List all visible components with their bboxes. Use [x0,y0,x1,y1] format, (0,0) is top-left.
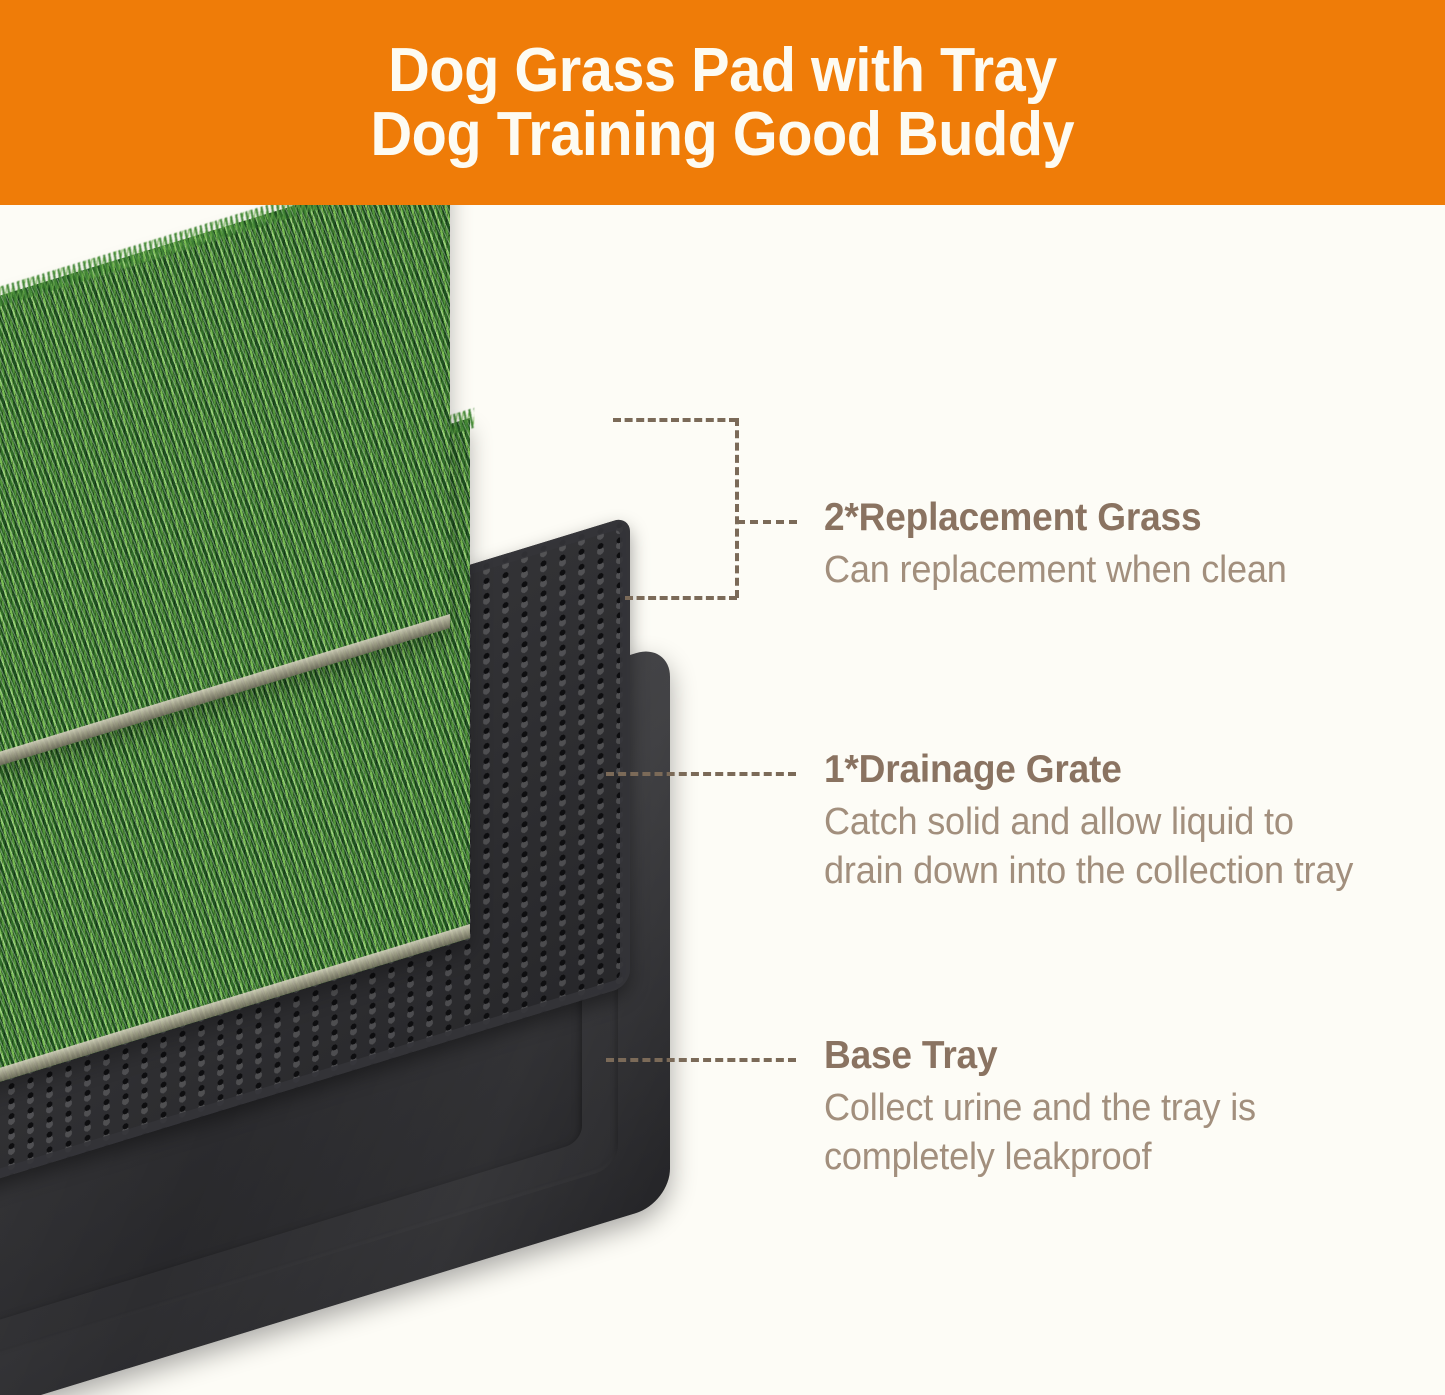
leader-bracket-right [735,418,739,598]
callout-base-tray-body: Collect urine and the tray is completely… [824,1084,1356,1183]
callout-drainage-grate-body: Catch solid and allow liquid to drain do… [824,798,1380,897]
callout-replacement-grass-body: Can replacement when clean [824,546,1394,595]
callout-replacement-grass-title: 2*Replacement Grass [824,496,1394,540]
leader-bracket-top [613,418,737,422]
banner-title-line-2: Dog Training Good Buddy [371,103,1075,166]
callout-drainage-grate-title: 1*Drainage Grate [824,748,1394,792]
leader-line-base-tray [606,1058,796,1062]
leader-line-drainage-grate [606,772,796,776]
callout-drainage-grate: 1*Drainage Grate Catch solid and allow l… [824,748,1424,896]
product-exploded-view [0,205,700,1395]
callout-base-tray-title: Base Tray [824,1034,1394,1078]
banner-title-line-1: Dog Grass Pad with Tray [388,39,1057,102]
callout-replacement-grass: 2*Replacement Grass Can replacement when… [824,496,1424,595]
header-banner: Dog Grass Pad with Tray Dog Training Goo… [0,0,1445,205]
infographic-page: Dog Grass Pad with Tray Dog Training Goo… [0,0,1445,1395]
grass-fiber-top-edge-upper [0,205,454,384]
callout-base-tray: Base Tray Collect urine and the tray is … [824,1034,1424,1182]
leader-bracket-bottom [625,596,737,600]
leader-bracket-stub [737,520,797,524]
